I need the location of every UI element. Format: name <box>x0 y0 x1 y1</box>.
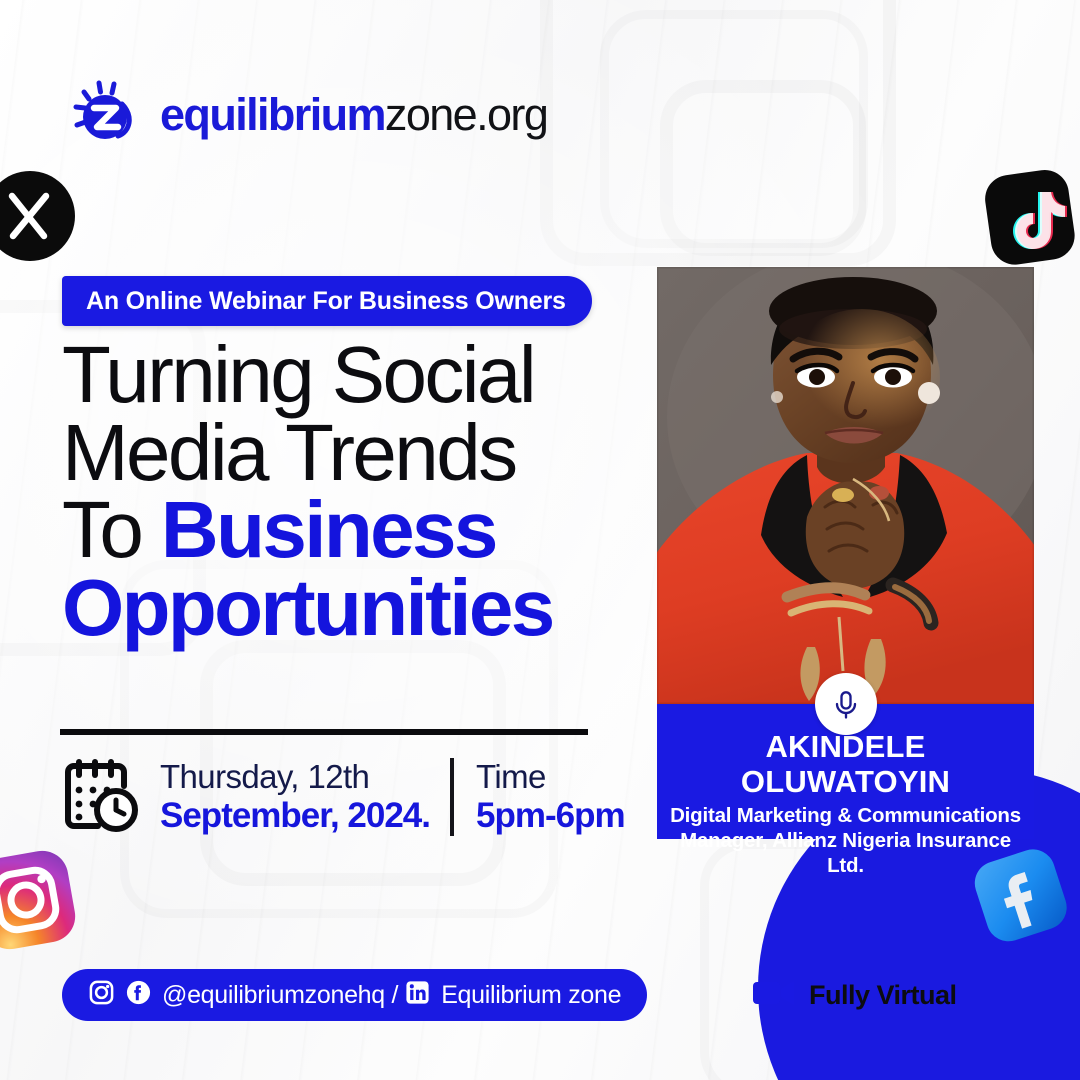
fully-virtual-label: Fully Virtual <box>809 980 957 1011</box>
event-date: Thursday, 12th September, 2024. <box>160 759 430 835</box>
webinar-badge-label: An Online Webinar For Business Owners <box>86 287 566 316</box>
headline-line-3-prefix: To <box>62 485 161 574</box>
headline-line-3-accent: Business <box>161 485 496 574</box>
event-date-weekday: Thursday, 12th <box>160 759 430 796</box>
webinar-badge: An Online Webinar For Business Owners <box>62 276 592 326</box>
speaker-role-line-1: Digital Marketing & Communications <box>657 803 1034 828</box>
speaker-photo <box>657 267 1034 704</box>
speaker-card: AKINDELE OLUWATOYIN Digital Marketing & … <box>657 267 1034 839</box>
logo-wordmark: equilibriumzone.org <box>160 89 547 141</box>
event-datetime: Thursday, 12th September, 2024. Time 5pm… <box>62 756 625 838</box>
headline-line-1: Turning Social <box>62 336 662 414</box>
x-twitter-icon <box>0 168 78 264</box>
speaker-name: AKINDELE OLUWATOYIN <box>657 730 1034 799</box>
fully-virtual-tag: Fully Virtual <box>752 978 957 1013</box>
facebook-icon[interactable] <box>125 979 152 1011</box>
instagram-icon[interactable] <box>88 979 115 1011</box>
logo-word-secondary: zone.org <box>385 89 547 140</box>
tiktok-icon <box>984 166 1080 270</box>
facebook-icon <box>972 848 1072 952</box>
calendar-clock-icon <box>62 756 144 838</box>
video-camera-icon <box>752 978 796 1013</box>
headline-line-2: Media Trends <box>62 414 662 492</box>
social-handles-pill[interactable]: @equilibriumzonehq / Equilibrium zone <box>62 969 647 1021</box>
brand-logo[interactable]: equilibriumzone.org <box>72 78 547 152</box>
linkedin-icon[interactable] <box>404 979 431 1011</box>
section-divider <box>60 729 588 735</box>
datetime-separator <box>450 758 454 836</box>
equilibrium-z-icon <box>72 78 146 152</box>
event-time-label: Time <box>476 759 625 796</box>
event-date-month-year: September, 2024. <box>160 796 430 835</box>
social-handle-main: @equilibriumzonehq / <box>162 981 398 1010</box>
instagram-icon <box>0 848 78 952</box>
webinar-flyer: equilibriumzone.org An Online Webinar Fo… <box>0 0 1080 1080</box>
microphone-icon <box>815 673 877 735</box>
social-handle-linkedin: Equilibrium zone <box>441 981 621 1010</box>
page-title: Turning Social Media Trends To Business … <box>62 336 662 646</box>
headline-line-4-accent: Opportunities <box>62 569 662 647</box>
logo-word-primary: equilibrium <box>160 89 385 140</box>
event-time-value: 5pm-6pm <box>476 796 625 835</box>
event-time: Time 5pm-6pm <box>476 759 625 835</box>
